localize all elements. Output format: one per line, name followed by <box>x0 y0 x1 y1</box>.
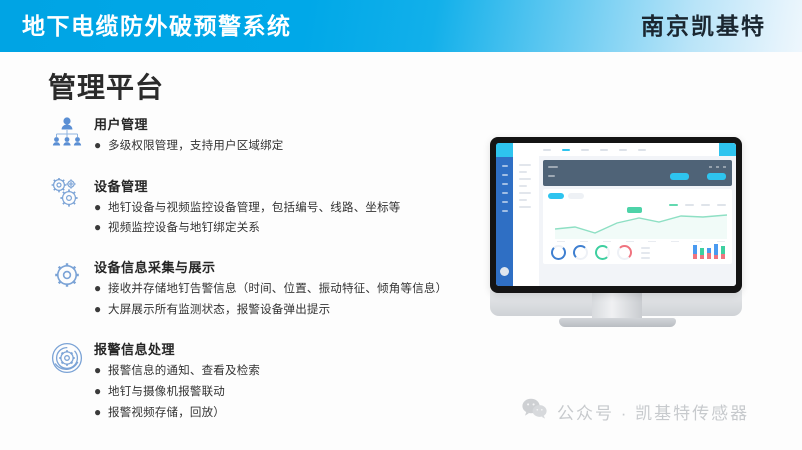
dashboard-banner-card <box>543 160 732 186</box>
donut-chart <box>617 245 632 260</box>
monitor-stand-neck <box>592 292 642 318</box>
bullet-text: 多级权限管理，支持用户区域绑定 <box>108 138 284 155</box>
bullet-marker: ● <box>94 406 108 418</box>
chart-tab <box>568 193 584 199</box>
dashboard-logo <box>496 143 513 157</box>
sidebar-item <box>502 210 508 212</box>
bar-group <box>721 246 725 259</box>
bar-group <box>693 245 697 259</box>
submenu-item <box>519 206 531 208</box>
feature-body: 用户管理 ● 多级权限管理，支持用户区域绑定 <box>90 114 284 159</box>
submenu-item <box>519 164 531 166</box>
feature-body: 设备信息采集与展示 ● 接收并存储地钉告警信息（时间、位置、振动特征、倾角等信息… <box>90 257 447 322</box>
bullet-item: ● 视频监控设备与地钉绑定关系 <box>94 220 401 237</box>
donut-chart <box>595 245 610 260</box>
line-chart <box>555 209 727 239</box>
submenu-item <box>519 178 531 180</box>
topbar-item <box>600 149 608 151</box>
bullet-item: ● 报警视频存储，回放） <box>94 405 260 422</box>
topbar-action <box>719 143 736 156</box>
feature-list: 用户管理 ● 多级权限管理，支持用户区域绑定 <box>44 114 494 425</box>
monitor-bezel <box>490 137 742 293</box>
donut-chart-group <box>551 245 650 260</box>
bullet-marker: ● <box>94 385 108 397</box>
sidebar-item <box>502 165 508 167</box>
bullet-item: ● 报警信息的通知、查看及检索 <box>94 363 260 380</box>
topbar-item <box>619 149 627 151</box>
topbar-item <box>638 149 646 151</box>
feature-item: 设备管理 ● 地钉设备与视频监控设备管理，包括编号、线路、坐标等 ● 视频监控设… <box>44 176 494 241</box>
bar-group <box>714 244 718 259</box>
submenu-item <box>519 199 527 201</box>
donut-chart <box>551 245 566 260</box>
bullet-text: 地钉设备与视频监控设备管理，包括编号、线路、坐标等 <box>108 200 401 217</box>
user-hierarchy-icon <box>44 114 90 146</box>
banner-text-line <box>548 175 555 177</box>
bullet-text: 报警视频存储，回放） <box>108 405 225 422</box>
topbar-item <box>581 149 589 151</box>
bullet-marker: ● <box>94 201 108 213</box>
header-title: 地下电缆防外破预警系统 <box>22 15 292 38</box>
feature-body: 设备管理 ● 地钉设备与视频监控设备管理，包括编号、线路、坐标等 ● 视频监控设… <box>90 176 401 241</box>
bullet-text: 地钉与摄像机报警联动 <box>108 384 225 401</box>
slide-root: 地下电缆防外破预警系统 南京凯基特 管理平台 <box>0 0 802 450</box>
topbar-item <box>543 149 551 151</box>
wechat-watermark: 公众号 · 凯基特传感器 <box>522 398 749 424</box>
avatar <box>500 267 509 276</box>
donut-legend <box>641 247 650 259</box>
donut-chart <box>573 245 588 260</box>
feature-item: 设备信息采集与展示 ● 接收并存储地钉告警信息（时间、位置、振动特征、倾角等信息… <box>44 257 494 322</box>
feature-item: 报警信息处理 ● 报警信息的通知、查看及检索 ● 地钉与摄像机报警联动 ● 报警… <box>44 339 494 425</box>
dashboard-screen <box>496 143 736 286</box>
chart-tooltip <box>627 207 642 213</box>
feature-heading: 用户管理 <box>94 114 284 133</box>
bullet-marker: ● <box>94 282 108 294</box>
bar-group <box>707 248 711 259</box>
dashboard-main <box>539 143 736 286</box>
gear-circles-icon <box>44 339 90 375</box>
feature-body: 报警信息处理 ● 报警信息的通知、查看及检索 ● 地钉与摄像机报警联动 ● 报警… <box>90 339 260 425</box>
bullet-marker: ● <box>94 139 108 151</box>
sidebar-item <box>502 201 508 203</box>
page-title: 管理平台 <box>48 66 164 106</box>
header-banner: 地下电缆防外破预警系统 南京凯基特 <box>0 0 802 52</box>
bullet-text: 报警信息的通知、查看及检索 <box>108 363 260 380</box>
dashboard-submenu <box>513 143 539 286</box>
banner-dots <box>709 166 726 168</box>
dashboard-chart-card <box>543 189 732 264</box>
bar-group <box>700 248 704 259</box>
submenu-item <box>519 192 531 194</box>
gears-icon <box>44 176 90 210</box>
wechat-icon <box>522 398 548 424</box>
monitor-stand-base <box>559 318 676 327</box>
dashboard-topbar <box>539 143 736 156</box>
sidebar-item <box>502 174 508 176</box>
feature-heading: 设备信息采集与展示 <box>94 257 447 276</box>
submenu-item <box>519 171 527 173</box>
feature-item: 用户管理 ● 多级权限管理，支持用户区域绑定 <box>44 114 494 159</box>
bullet-item: ● 地钉与摄像机报警联动 <box>94 384 260 401</box>
sidebar-item <box>502 183 508 185</box>
sidebar-item <box>502 192 508 194</box>
topbar-item-active <box>562 149 570 151</box>
bullet-marker: ● <box>94 364 108 376</box>
dashboard-sidebar <box>496 143 513 286</box>
bullet-text: 视频监控设备与地钉绑定关系 <box>108 220 260 237</box>
bullet-item: ● 接收并存储地钉告警信息（时间、位置、振动特征、倾角等信息） <box>94 281 447 298</box>
bullet-item: ● 大屏展示所有监测状态，报警设备弹出提示 <box>94 302 447 319</box>
bullet-item: ● 多级权限管理，支持用户区域绑定 <box>94 138 284 155</box>
feature-heading: 设备管理 <box>94 176 401 195</box>
submenu-item <box>519 185 527 187</box>
watermark-text: 公众号 · 凯基特传感器 <box>557 399 749 424</box>
monitor-mockup-image <box>482 137 752 367</box>
bullet-marker: ● <box>94 221 108 233</box>
chart-tabs <box>548 193 584 199</box>
banner-button <box>707 173 726 180</box>
bullet-text: 大屏展示所有监测状态，报警设备弹出提示 <box>108 302 330 319</box>
feature-heading: 报警信息处理 <box>94 339 260 358</box>
chart-tab-active <box>548 193 564 199</box>
bullet-item: ● 地钉设备与视频监控设备管理，包括编号、线路、坐标等 <box>94 200 401 217</box>
gear-outline-icon <box>44 257 90 291</box>
banner-text-line <box>548 166 558 168</box>
bullet-marker: ● <box>94 303 108 315</box>
bullet-text: 接收并存储地钉告警信息（时间、位置、振动特征、倾角等信息） <box>108 281 447 298</box>
bar-chart <box>693 242 725 259</box>
banner-button <box>670 173 689 180</box>
header-brand: 南京凯基特 <box>641 15 766 38</box>
chart-legend <box>669 204 726 206</box>
